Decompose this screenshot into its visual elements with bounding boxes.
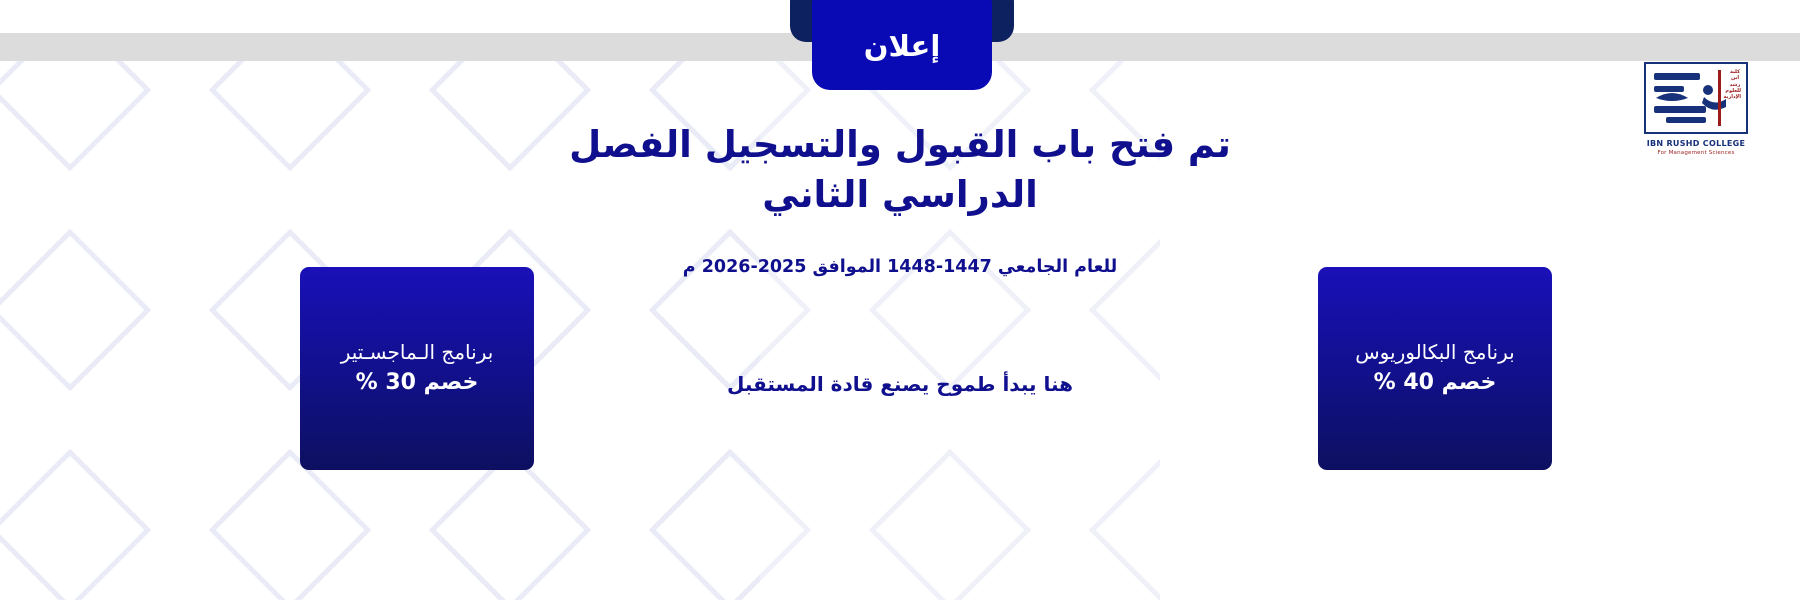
headline-line-1: تم فتح باب القبول والتسجيل الفصل — [560, 120, 1240, 170]
logo-english-name: IBN RUSHD COLLEGE — [1640, 139, 1752, 148]
headline-line-2: الدراسي الثاني — [560, 170, 1240, 220]
academic-year-subtitle: للعام الجامعي 1447-1448 الموافق 2025-202… — [560, 220, 1240, 279]
banner-text-column: تم فتح باب القبول والتسجيل الفصل الدراسي… — [560, 120, 1240, 397]
announcement-badge: إعلان — [790, 0, 1014, 90]
page-title: تم فتح باب القبول والتسجيل الفصل الدراسي… — [560, 120, 1240, 220]
offer-card-bachelor-discount: خصم 40 % — [1374, 366, 1497, 398]
announcement-banner: إعلان كلية ابن رشد للعلوم الإدارية — [0, 0, 1800, 600]
offer-card-bachelor-title: برنامج البكالوريوس — [1355, 339, 1514, 366]
offer-card-master-title: برنامج الـماجسـتير — [341, 339, 494, 366]
offer-card-master-discount: خصم 30 % — [356, 366, 479, 398]
tagline: هنا يبدأ طموح يصنع قادة المستقبل — [560, 279, 1240, 397]
logo-english-tagline: For Management Sciences — [1640, 150, 1752, 156]
offer-card-bachelor[interactable]: برنامج البكالوريوس خصم 40 % — [1318, 267, 1552, 470]
logo-arabic-text: كلية ابن رشد للعلوم الإدارية — [1729, 69, 1741, 100]
logo-mark-icon: كلية ابن رشد للعلوم الإدارية — [1644, 62, 1748, 134]
badge-pill: إعلان — [812, 0, 992, 90]
offer-card-master[interactable]: برنامج الـماجسـتير خصم 30 % — [300, 267, 534, 470]
badge-label: إعلان — [864, 16, 941, 61]
college-logo: كلية ابن رشد للعلوم الإدارية IBN RUSHD C… — [1640, 62, 1752, 170]
